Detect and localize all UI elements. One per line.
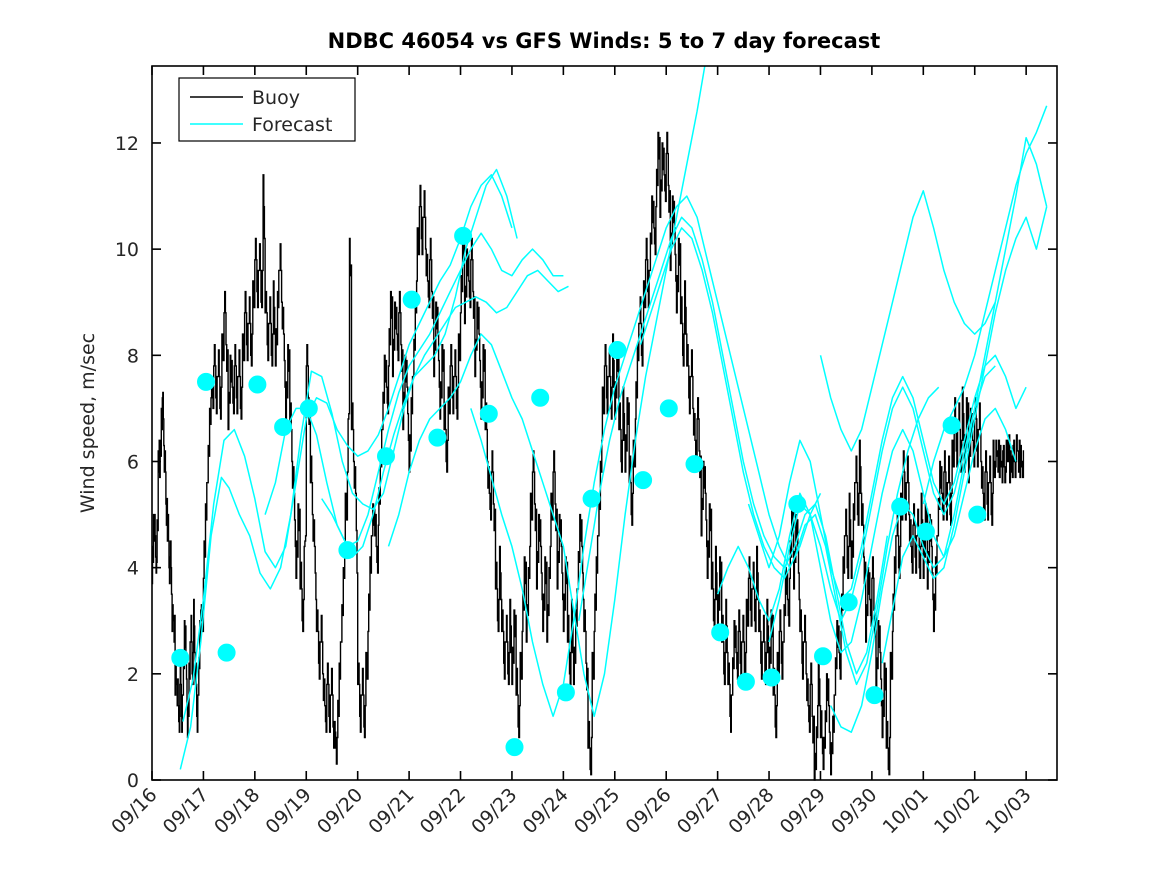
forecast-marker-7 xyxy=(378,448,395,465)
forecast-marker-26 xyxy=(866,687,883,704)
y-tick-label: 8 xyxy=(127,345,139,367)
forecast-marker-0 xyxy=(172,649,189,666)
forecast-marker-6 xyxy=(339,542,356,559)
forecast-marker-17 xyxy=(635,472,652,489)
chart-background xyxy=(0,0,1167,875)
forecast-marker-20 xyxy=(712,624,729,641)
forecast-marker-25 xyxy=(840,594,857,611)
forecast-marker-4 xyxy=(275,419,292,436)
chart-legend: Buoy Forecast xyxy=(179,78,355,141)
y-axis-label: Wind speed, m/sec xyxy=(77,333,99,513)
figure-canvas: NDBC 46054 vs GFS Winds: 5 to 7 day fore… xyxy=(0,0,1167,875)
y-tick-label: 0 xyxy=(127,770,139,792)
forecast-marker-9 xyxy=(429,429,446,446)
chart-title: NDBC 46054 vs GFS Winds: 5 to 7 day fore… xyxy=(328,29,881,53)
forecast-marker-1 xyxy=(198,373,215,390)
y-tick-label: 2 xyxy=(127,664,139,686)
forecast-marker-3 xyxy=(249,376,266,393)
forecast-marker-28 xyxy=(917,523,934,540)
forecast-marker-11 xyxy=(480,405,497,422)
forecast-marker-14 xyxy=(557,684,574,701)
legend-label-forecast: Forecast xyxy=(252,114,332,136)
forecast-marker-8 xyxy=(403,291,420,308)
y-tick-label: 12 xyxy=(115,133,139,155)
forecast-marker-15 xyxy=(583,490,600,507)
forecast-marker-19 xyxy=(686,456,703,473)
forecast-marker-21 xyxy=(737,673,754,690)
forecast-marker-29 xyxy=(943,417,960,434)
forecast-marker-30 xyxy=(969,506,986,523)
forecast-marker-12 xyxy=(506,739,523,756)
forecast-marker-27 xyxy=(892,498,909,515)
y-tick-label: 4 xyxy=(127,558,139,580)
y-tick-label: 6 xyxy=(127,451,139,473)
forecast-marker-23 xyxy=(789,496,806,513)
forecast-marker-24 xyxy=(815,648,832,665)
y-tick-label: 10 xyxy=(115,239,139,261)
forecast-marker-22 xyxy=(763,669,780,686)
forecast-marker-18 xyxy=(660,400,677,417)
forecast-marker-16 xyxy=(609,342,626,359)
forecast-marker-13 xyxy=(532,389,549,406)
forecast-marker-2 xyxy=(218,644,235,661)
forecast-marker-10 xyxy=(455,227,472,244)
wind-speed-chart: NDBC 46054 vs GFS Winds: 5 to 7 day fore… xyxy=(0,0,1167,875)
legend-label-buoy: Buoy xyxy=(252,87,300,109)
forecast-marker-5 xyxy=(300,400,317,417)
